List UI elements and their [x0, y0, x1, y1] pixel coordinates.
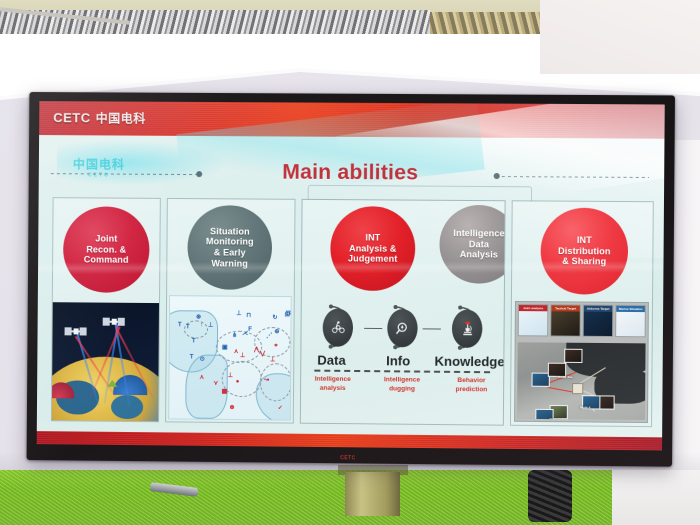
map-label-node-a: Node A [580, 405, 591, 409]
unit-red-14: ✓ [278, 405, 283, 411]
coastline-2 [185, 354, 228, 419]
unit-red-7: ⋏ [200, 375, 204, 381]
flow-label-row: Data Info Knowledge [301, 352, 503, 369]
distribution-screenshot: Joint analysis Tactical Target Analysis … [514, 301, 649, 423]
booth-scene: CETC CETC 中国电科 中国电科 CETC Main abilities [0, 0, 700, 525]
satellite-recon-image [52, 302, 159, 421]
flow-node-row [301, 304, 503, 352]
map-node-chip [564, 349, 582, 363]
satellite-icon-2 [103, 321, 125, 323]
flow-caption-knowledge: Behavior prediction [440, 377, 504, 395]
ops-ring-3 [222, 361, 263, 397]
unit-blue-5: ⊙ [200, 357, 205, 363]
bubble-ida-label: Intelligence Data Analysis [453, 228, 505, 260]
flow-dashed-divider [314, 370, 490, 374]
panel-joint-recon[interactable]: Joint Recon. & Command [51, 197, 161, 422]
unit-blue-4: T [190, 354, 194, 360]
report-thumbnail-body [584, 312, 613, 336]
report-thumbnail[interactable]: Joint analysis [518, 304, 549, 336]
molecule-icon [329, 319, 346, 336]
bubble-int-analysis-label: INT Analysis & Judgement [348, 232, 398, 264]
unit-red-3: ⋀ [254, 347, 259, 353]
flow-label-data: Data [301, 352, 362, 368]
floor-tire [528, 470, 572, 522]
unit-red-4: ⋁ [260, 351, 265, 357]
bubble-int-distribution-label: INT Distribution & Sharing [558, 235, 611, 267]
unit-blue-9: ⋔ [232, 333, 237, 339]
panel-int-distribution[interactable]: INT Distribution & Sharing Joint analysi… [510, 200, 654, 427]
unit-blue-13: ⊕ [274, 329, 279, 335]
unit-blue-17: ∰ [285, 311, 291, 317]
unit-red-11: ▩ [222, 389, 228, 395]
report-thumbnail[interactable]: Marine Situation Briefing [615, 305, 646, 338]
bubble-int-analysis[interactable]: INT Analysis & Judgement [330, 206, 415, 291]
bubble-situation-monitoring[interactable]: Situation Monitoring & Early Warning [187, 205, 272, 290]
unit-blue-12: ⋰ [266, 333, 272, 339]
unit-red-2: ⊥ [240, 353, 245, 359]
slide-body: 中国电科 CETC Main abilities Joint Recon. & … [37, 135, 665, 437]
unit-blue-16: ↻ [272, 315, 277, 321]
magnifier-icon [394, 320, 411, 337]
wall-upper-right [540, 0, 700, 74]
ability-panel-row: Joint Recon. & Command [51, 197, 654, 427]
logo-text-en: CETC [53, 110, 91, 125]
report-thumbnail-row: Joint analysis Tactical Target Analysis … [516, 302, 648, 339]
unit-blue-2: T [186, 324, 190, 330]
map-label-node-b: Node B [549, 417, 560, 420]
unit-blue-18: ▣ [222, 345, 228, 351]
node-circle-knowledge [452, 310, 483, 348]
tactical-situation-map: T T T T ⊙ ↑ ⊥ ⊛ ⋔ ⋌ F ⋰ ⊕ [168, 295, 292, 420]
unit-red-5: ⌖ [274, 343, 277, 349]
unit-red-1: ⋏ [234, 349, 238, 355]
report-thumbnail-body [551, 311, 580, 335]
flow-caption-row: Intelligence analysis Intelligence duggi… [301, 376, 503, 396]
unit-blue-7: ⊥ [208, 323, 213, 329]
unit-blue-3: T [192, 338, 196, 344]
unit-blue-14: ⊥ [236, 311, 241, 317]
flow-node-info[interactable] [381, 305, 424, 352]
dot-marker-left [196, 171, 202, 177]
bubble-int-distribution[interactable]: INT Distribution & Sharing [540, 208, 628, 295]
unit-blue-6: ↑ [200, 322, 203, 328]
bubble-situation-label: Situation Monitoring & Early Warning [206, 226, 254, 269]
flow-caption-info: Intelligence dugging [370, 376, 433, 394]
report-thumbnail-body [519, 311, 548, 335]
report-thumbnail[interactable]: Airborne Target Data Analysis [583, 305, 614, 338]
flow-caption-data: Intelligence analysis [301, 376, 364, 394]
flow-connector-1 [364, 328, 382, 329]
floor-right-strip [612, 470, 700, 525]
knowledge-flow-diagram: Data Info Knowledge Intelligence analysi… [301, 304, 504, 395]
unit-red-8: ⋎ [214, 381, 218, 387]
satellite-distribution-map: Radar Sta. Node A Node B [517, 342, 645, 420]
flow-label-info: Info [368, 353, 429, 369]
bubble-intelligence-data-analysis[interactable]: Intelligence Data Analysis [439, 205, 505, 284]
map-label-hub: Radar Sta. [558, 375, 573, 379]
bubble-joint-recon-label: Joint Recon. & Command [84, 233, 129, 265]
node-circle-info [387, 309, 418, 347]
report-thumbnail[interactable]: Tactical Target Analysis [550, 304, 581, 336]
panel-int-analysis[interactable]: INT Analysis & Judgement Intelligence Da… [300, 199, 506, 426]
panel-situation-monitoring[interactable]: Situation Monitoring & Early Warning T [165, 198, 295, 424]
unit-red-6: ⊥ [270, 357, 275, 363]
flow-node-data[interactable] [317, 304, 360, 351]
dot-marker-right [494, 173, 500, 179]
cetc-logo: CETC 中国电科 [53, 109, 146, 127]
satellite-icon-1 [65, 330, 87, 332]
bubble-joint-recon[interactable]: Joint Recon. & Command [63, 206, 150, 293]
flow-label-knowledge: Knowledge [434, 354, 503, 370]
distribution-hub [572, 383, 583, 394]
unit-red-12: ↝ [264, 377, 269, 383]
unit-red-9: ⊥ [228, 373, 233, 379]
flow-connector-2 [423, 328, 441, 329]
bezel-brand-logo: CETC [340, 455, 355, 461]
unit-red-10: ● [236, 379, 240, 385]
flow-node-knowledge[interactable] [446, 305, 489, 352]
wall-mounted-display[interactable]: CETC CETC 中国电科 中国电科 CETC Main abilities [27, 92, 675, 467]
unit-blue-11: F [248, 327, 252, 333]
display-stand-base [345, 472, 400, 516]
display-screen: CETC 中国电科 中国电科 CETC Main abilities [37, 101, 665, 450]
unit-red-13: ⊛ [229, 405, 234, 411]
unit-blue-8: ⊛ [196, 314, 201, 320]
microscope-icon [458, 320, 475, 338]
logo-text-cn: 中国电科 [96, 109, 146, 126]
unit-blue-15: ⊓ [246, 313, 251, 319]
unit-blue-1: T [178, 322, 182, 328]
node-circle-data [323, 308, 354, 346]
report-thumbnail-body [616, 312, 645, 336]
